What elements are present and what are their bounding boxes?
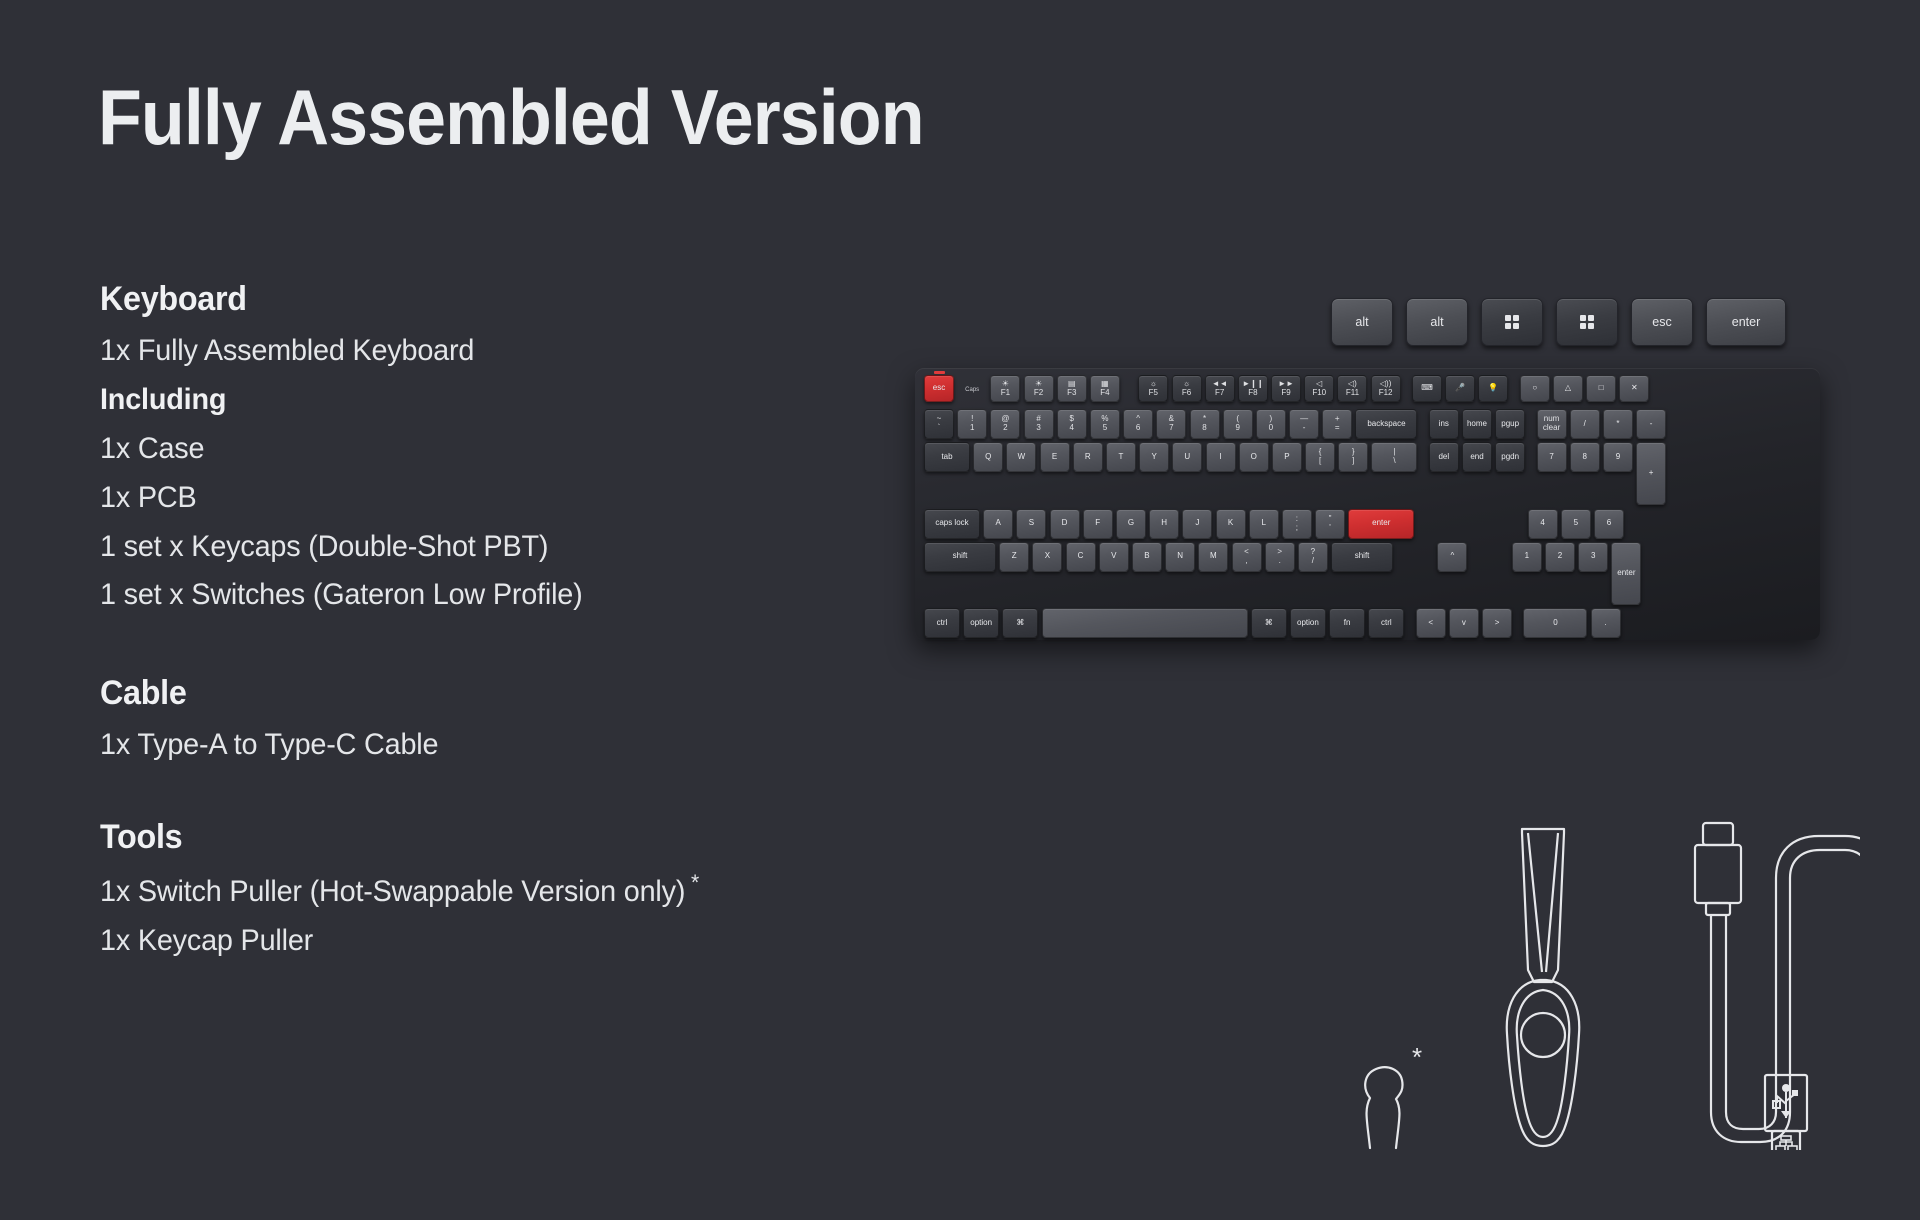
key-legend: △ <box>1565 384 1571 393</box>
key-legend-bottom: ] <box>1352 457 1354 466</box>
list-item: 1x Keycap Puller <box>100 917 897 966</box>
key-r: R <box>1073 442 1103 472</box>
keyboard-illustration: escCaps☀F1☀F2▤F3▦F4☼F5☼F6◄◄F7►❙❙F8►►F9◁F… <box>915 368 1820 640</box>
key-f12: ◁))F12 <box>1371 375 1401 402</box>
key-legend-bottom: 4 <box>1070 424 1074 433</box>
list-item: 1x PCB <box>100 474 897 523</box>
key-legend: shift <box>1355 552 1370 561</box>
key-legend: option <box>970 619 992 628</box>
key-legend-bottom: F7 <box>1215 389 1224 398</box>
key-blank: "' <box>1315 509 1345 539</box>
keyboard-row-tab: tabQWERTYUIOP{[}]|\delendpgdn789+ <box>924 442 1811 505</box>
key-home: home <box>1462 409 1492 439</box>
key-legend-bottom: F3 <box>1067 389 1076 398</box>
key-blank: ~` <box>924 409 954 439</box>
key-legend: G <box>1128 519 1134 528</box>
key-legend: B <box>1144 552 1149 561</box>
key-legend: fn <box>1344 619 1351 628</box>
key-8: *8 <box>1190 409 1220 439</box>
key-legend: - <box>1650 420 1653 429</box>
key-2: @2 <box>990 409 1020 439</box>
key-t: T <box>1106 442 1136 472</box>
key-legend: P <box>1284 453 1289 462</box>
key-legend-bottom: ; <box>1296 524 1298 533</box>
key-q: Q <box>973 442 1003 472</box>
key-legend: esc <box>933 384 945 393</box>
key-blank: :; <box>1282 509 1312 539</box>
key-del: del <box>1429 442 1459 472</box>
key-legend: pgup <box>1501 420 1519 429</box>
key-9: 9 <box>1603 442 1633 472</box>
keycap-puller-icon <box>1365 1067 1402 1148</box>
key-blank: . <box>1591 608 1621 638</box>
key-f6: ☼F6 <box>1172 375 1202 402</box>
keyboard-row-bottom: ctrloption⌘⌘optionfnctrl<v>0. <box>924 608 1811 638</box>
key-v: V <box>1099 542 1129 572</box>
key-legend: v <box>1462 619 1466 628</box>
key-f2: ☀F2 <box>1024 375 1054 402</box>
key-legend: enter <box>1617 569 1635 578</box>
key-legend: Z <box>1012 552 1017 561</box>
key-legend: backspace <box>1367 420 1405 429</box>
key-x: X <box>1032 542 1062 572</box>
key-enter: enter <box>1348 509 1414 539</box>
keyboard-gap <box>1421 442 1426 472</box>
list-item: 1x Switch Puller (Hot-Swappable Version … <box>100 865 897 917</box>
usb-cable-icon <box>1695 823 1860 1150</box>
key-legend-bottom: - <box>1303 424 1306 433</box>
key-u: U <box>1172 442 1202 472</box>
key-legend: Y <box>1151 453 1156 462</box>
key-legend: S <box>1029 519 1034 528</box>
tools-artwork: * <box>1340 820 1860 1150</box>
section-heading-keyboard: Keyboard <box>100 280 889 319</box>
key-legend: E <box>1052 453 1057 462</box>
key-legend: shift <box>953 552 968 561</box>
key-legend-bottom: ' <box>1329 524 1331 533</box>
list-item: Including <box>100 376 897 425</box>
key-legend-bottom: 6 <box>1136 424 1140 433</box>
key-f1: ☀F1 <box>990 375 1020 402</box>
windows-icon <box>1580 315 1595 330</box>
spacer <box>100 620 930 674</box>
key-legend-bottom: F10 <box>1312 389 1326 398</box>
key-legend: / <box>1584 420 1586 429</box>
key-legend-bottom: , <box>1245 557 1247 566</box>
parts-list: Keyboard 1x Fully Assembled Keyboard Inc… <box>100 280 930 966</box>
key-pgup: pgup <box>1495 409 1525 439</box>
keyboard-gap <box>1396 542 1434 572</box>
key-5: %5 <box>1090 409 1120 439</box>
key-legend: . <box>1605 619 1607 628</box>
list-item: 1x Fully Assembled Keyboard <box>100 327 897 376</box>
key-legend: V <box>1111 552 1116 561</box>
keyboard-gap <box>1515 608 1520 638</box>
key-legend: U <box>1184 453 1190 462</box>
key-7: &7 <box>1156 409 1186 439</box>
key-legend: X <box>1045 552 1050 561</box>
key-f11: ◁)F11 <box>1337 375 1367 402</box>
key-legend-bottom: 1 <box>970 424 974 433</box>
section-heading-tools: Tools <box>100 818 889 857</box>
list-item: 1x Type-A to Type-C Cable <box>100 721 897 770</box>
key-legend: ins <box>1439 420 1449 429</box>
key-f: F <box>1083 509 1113 539</box>
key-3: #3 <box>1024 409 1054 439</box>
key-blank: |\ <box>1371 442 1417 472</box>
key-legend: 🎤 <box>1455 384 1465 393</box>
key-7: 7 <box>1537 442 1567 472</box>
key-f9: ►►F9 <box>1271 375 1301 402</box>
key-m: M <box>1198 542 1228 572</box>
key-legend: home <box>1467 420 1487 429</box>
key-legend: L <box>1261 519 1265 528</box>
key-legend-bottom: F11 <box>1346 389 1359 398</box>
key-legend-bottom: / <box>1312 557 1314 566</box>
key-blank: □ <box>1586 375 1616 402</box>
key-shift: shift <box>1331 542 1393 572</box>
key-1: 1 <box>1512 542 1542 572</box>
list-item: 1x Case <box>100 425 897 474</box>
key-legend-bottom: \ <box>1393 457 1395 466</box>
key-legend: ⌘ <box>1016 619 1024 628</box>
key-legend: M <box>1210 552 1217 561</box>
key-legend: ○ <box>1532 384 1537 393</box>
key-legend: 0 <box>1553 619 1557 628</box>
key-c: C <box>1066 542 1096 572</box>
key-f7: ◄◄F7 <box>1205 375 1235 402</box>
key-legend: R <box>1085 453 1091 462</box>
keyboard-row-caps: caps lockASDFGHJKL:;"'enter456 <box>924 509 1811 539</box>
spacer <box>100 770 930 818</box>
key-f8: ►❙❙F8 <box>1238 375 1268 402</box>
key-legend: ⌨ <box>1421 384 1433 393</box>
keyboard-row-shift: shiftZXCVBNM<,>.?/shift^123enter <box>924 542 1811 605</box>
extra-keycap-windows-icon <box>1481 298 1543 346</box>
key-blank: 💡 <box>1478 375 1508 402</box>
key-p: P <box>1272 442 1302 472</box>
key-legend: del <box>1438 453 1449 462</box>
key-ctrl: ctrl <box>924 608 960 638</box>
key-blank: —- <box>1289 409 1319 439</box>
key-legend-bottom: 8 <box>1202 424 1206 433</box>
key-legend: ⌘ <box>1265 619 1273 628</box>
key-legend: 8 <box>1583 453 1587 462</box>
key-i: I <box>1206 442 1236 472</box>
key-blank: < <box>1416 608 1446 638</box>
key-legend: * <box>1616 420 1619 429</box>
key-legend: tab <box>941 453 952 462</box>
key-e: E <box>1040 442 1070 472</box>
list-item-label: 1x Switch Puller (Hot-Swappable Version … <box>100 875 685 908</box>
key-blank: 🎤 <box>1445 375 1475 402</box>
key-legend-bottom: F6 <box>1182 389 1191 398</box>
key-blank: ⌨ <box>1412 375 1442 402</box>
key-legend: 7 <box>1549 453 1553 462</box>
key-legend: 💡 <box>1488 384 1498 393</box>
section-heading-cable: Cable <box>100 674 889 713</box>
key-legend: ^ <box>1451 552 1455 561</box>
key-0: )0 <box>1256 409 1286 439</box>
key-legend-bottom: 9 <box>1235 424 1239 433</box>
key-legend-bottom: F8 <box>1248 389 1257 398</box>
key-blank: ^ <box>1437 542 1467 572</box>
windows-icon <box>1505 315 1520 330</box>
key-h: H <box>1149 509 1179 539</box>
keyboard-gap <box>1404 375 1409 405</box>
key-4: $4 <box>1057 409 1087 439</box>
led-indicator <box>934 371 945 374</box>
key-legend: C <box>1078 552 1084 561</box>
keyboard-gap <box>1512 375 1517 405</box>
key-blank: * <box>1603 409 1633 439</box>
key-blank: ○ <box>1520 375 1550 402</box>
key-esc: esc <box>924 375 954 402</box>
key-b: B <box>1132 542 1162 572</box>
key-legend-bottom: F5 <box>1149 389 1158 398</box>
key-legend-bottom: F12 <box>1379 389 1393 398</box>
key-6: ^6 <box>1123 409 1153 439</box>
key-legend: 4 <box>1540 519 1544 528</box>
keyboard-gap <box>1528 409 1533 439</box>
section-keyboard: Keyboard 1x Fully Assembled Keyboard Inc… <box>100 280 930 620</box>
key-y: Y <box>1139 442 1169 472</box>
key-legend-bottom: ` <box>938 424 941 433</box>
key-blank: + <box>1636 442 1666 505</box>
key-legend: ✕ <box>1631 384 1638 393</box>
extra-keycap-enter: enter <box>1706 298 1786 346</box>
key-legend: F <box>1095 519 1100 528</box>
key-legend-bottom: 2 <box>1003 424 1007 433</box>
key-s: S <box>1016 509 1046 539</box>
key-legend: 2 <box>1558 552 1562 561</box>
key-d: D <box>1050 509 1080 539</box>
extra-keycap-label: esc <box>1652 315 1671 329</box>
key-legend: option <box>1297 619 1319 628</box>
key-v: v <box>1449 608 1479 638</box>
key-legend-bottom: . <box>1279 557 1281 566</box>
key-backspace: backspace <box>1355 409 1417 439</box>
extra-keycap-label: alt <box>1355 315 1368 329</box>
key-clear: numclear <box>1537 409 1567 439</box>
key-tab: tab <box>924 442 970 472</box>
key-legend: D <box>1062 519 1068 528</box>
key-blank: <, <box>1232 542 1262 572</box>
key-g: G <box>1116 509 1146 539</box>
keyboard-row-number: ~`!1@2#3$4%5^6&7*8(9)0—-+=backspaceinsho… <box>924 409 1811 439</box>
key-f10: ◁F10 <box>1304 375 1334 402</box>
key-legend: J <box>1195 519 1199 528</box>
key-blank <box>1042 608 1248 638</box>
key-5: 5 <box>1561 509 1591 539</box>
key-blank: △ <box>1553 375 1583 402</box>
key-legend-bottom: 7 <box>1169 424 1173 433</box>
key-6: 6 <box>1594 509 1624 539</box>
keyboard-gap <box>1123 375 1135 405</box>
key-legend: > <box>1495 619 1500 628</box>
key-legend-bottom: [ <box>1319 457 1321 466</box>
key-blank: ?/ <box>1298 542 1328 572</box>
key-legend: end <box>1470 453 1483 462</box>
key-legend: + <box>1649 469 1654 478</box>
key-end: end <box>1462 442 1492 472</box>
key-legend: H <box>1161 519 1167 528</box>
key-fn: fn <box>1329 608 1365 638</box>
key-ins: ins <box>1429 409 1459 439</box>
keyboard-gap <box>1471 542 1509 572</box>
key-legend: ctrl <box>1381 619 1392 628</box>
caps-indicator-label: Caps <box>965 387 979 393</box>
key-pgdn: pgdn <box>1495 442 1525 472</box>
key-legend-bottom: = <box>1335 424 1340 433</box>
extra-keycap-label: alt <box>1430 315 1443 329</box>
key-blank: > <box>1482 608 1512 638</box>
key-legend-bottom: 5 <box>1103 424 1107 433</box>
key-1: !1 <box>957 409 987 439</box>
key-blank: / <box>1570 409 1600 439</box>
key-legend: I <box>1219 453 1221 462</box>
key-legend: N <box>1177 552 1183 561</box>
key-z: Z <box>999 542 1029 572</box>
key-blank: >. <box>1265 542 1295 572</box>
key-blank: ✕ <box>1619 375 1649 402</box>
key-k: K <box>1216 509 1246 539</box>
key-legend: pgdn <box>1501 453 1519 462</box>
key-option: option <box>1290 608 1326 638</box>
extra-keycap-esc: esc <box>1631 298 1693 346</box>
key-ctrl: ctrl <box>1368 608 1404 638</box>
keyboard-gap <box>1528 442 1533 472</box>
key-l: L <box>1249 509 1279 539</box>
key-legend: A <box>996 519 1001 528</box>
key-blank: - <box>1636 409 1666 439</box>
key-legend-bottom: F2 <box>1034 389 1043 398</box>
key-option: option <box>963 608 999 638</box>
extra-keycap-label: enter <box>1732 315 1761 329</box>
key-legend-bottom: 3 <box>1036 424 1040 433</box>
key-legend: K <box>1228 519 1233 528</box>
key-legend: caps lock <box>935 519 968 528</box>
switch-puller-icon <box>1507 829 1579 1146</box>
key-o: O <box>1239 442 1269 472</box>
key-legend: 1 <box>1525 552 1529 561</box>
key-legend-bottom: F4 <box>1100 389 1109 398</box>
list-item: 1 set x Keycaps (Double-Shot PBT) <box>100 523 897 572</box>
key-blank: {[ <box>1305 442 1335 472</box>
key-0: 0 <box>1523 608 1587 638</box>
section-tools: Tools 1x Switch Puller (Hot-Swappable Ve… <box>100 818 930 966</box>
key-legend-bottom: clear <box>1543 424 1560 433</box>
keyboard-gap <box>1408 608 1413 638</box>
keyboard-row-function: escCaps☀F1☀F2▤F3▦F4☼F5☼F6◄◄F7►❙❙F8►►F9◁F… <box>924 375 1811 405</box>
list-item: 1 set x Switches (Gateron Low Profile) <box>100 571 897 620</box>
key-legend: T <box>1118 453 1123 462</box>
key-caps-lock: caps lock <box>924 509 980 539</box>
key-legend: O <box>1251 453 1257 462</box>
key-blank: ⌘ <box>1002 608 1038 638</box>
caps-indicator: Caps <box>957 375 987 405</box>
key-blank: ⌘ <box>1251 608 1287 638</box>
footnote-asterisk: * <box>691 870 699 895</box>
key-legend-bottom: F1 <box>1001 389 1010 398</box>
page-title: Fully Assembled Version <box>98 72 924 163</box>
key-j: J <box>1182 509 1212 539</box>
key-a: A <box>983 509 1013 539</box>
key-legend-bottom: F9 <box>1281 389 1290 398</box>
key-legend: 9 <box>1616 453 1620 462</box>
key-legend: < <box>1428 619 1433 628</box>
key-9: (9 <box>1223 409 1253 439</box>
key-n: N <box>1165 542 1195 572</box>
key-legend: W <box>1018 453 1026 462</box>
key-legend: Q <box>985 453 991 462</box>
keyboard-gap <box>1417 509 1524 539</box>
key-f5: ☼F5 <box>1138 375 1168 402</box>
extra-keycap-alt: alt <box>1406 298 1468 346</box>
key-shift: shift <box>924 542 996 572</box>
key-legend-bottom: 0 <box>1269 424 1273 433</box>
key-3: 3 <box>1578 542 1608 572</box>
extra-keycap-alt: alt <box>1331 298 1393 346</box>
key-2: 2 <box>1545 542 1575 572</box>
key-f4: ▦F4 <box>1090 375 1120 402</box>
key-enter: enter <box>1611 542 1641 605</box>
key-blank: += <box>1322 409 1352 439</box>
extra-keycap-windows-icon <box>1556 298 1618 346</box>
key-8: 8 <box>1570 442 1600 472</box>
keyboard-gap <box>1421 409 1426 439</box>
key-legend: enter <box>1372 519 1390 528</box>
key-4: 4 <box>1528 509 1558 539</box>
key-legend: □ <box>1599 384 1604 393</box>
key-f3: ▤F3 <box>1057 375 1087 402</box>
key-legend: 5 <box>1574 519 1578 528</box>
section-cable: Cable 1x Type-A to Type-C Cable <box>100 674 930 770</box>
key-legend: ctrl <box>937 619 948 628</box>
footnote-asterisk: * <box>1412 1042 1422 1072</box>
key-legend: 6 <box>1607 519 1611 528</box>
extra-keycaps-row: altaltescenter <box>1331 298 1786 346</box>
key-w: W <box>1006 442 1036 472</box>
key-blank: }] <box>1338 442 1368 472</box>
key-legend: 3 <box>1591 552 1595 561</box>
